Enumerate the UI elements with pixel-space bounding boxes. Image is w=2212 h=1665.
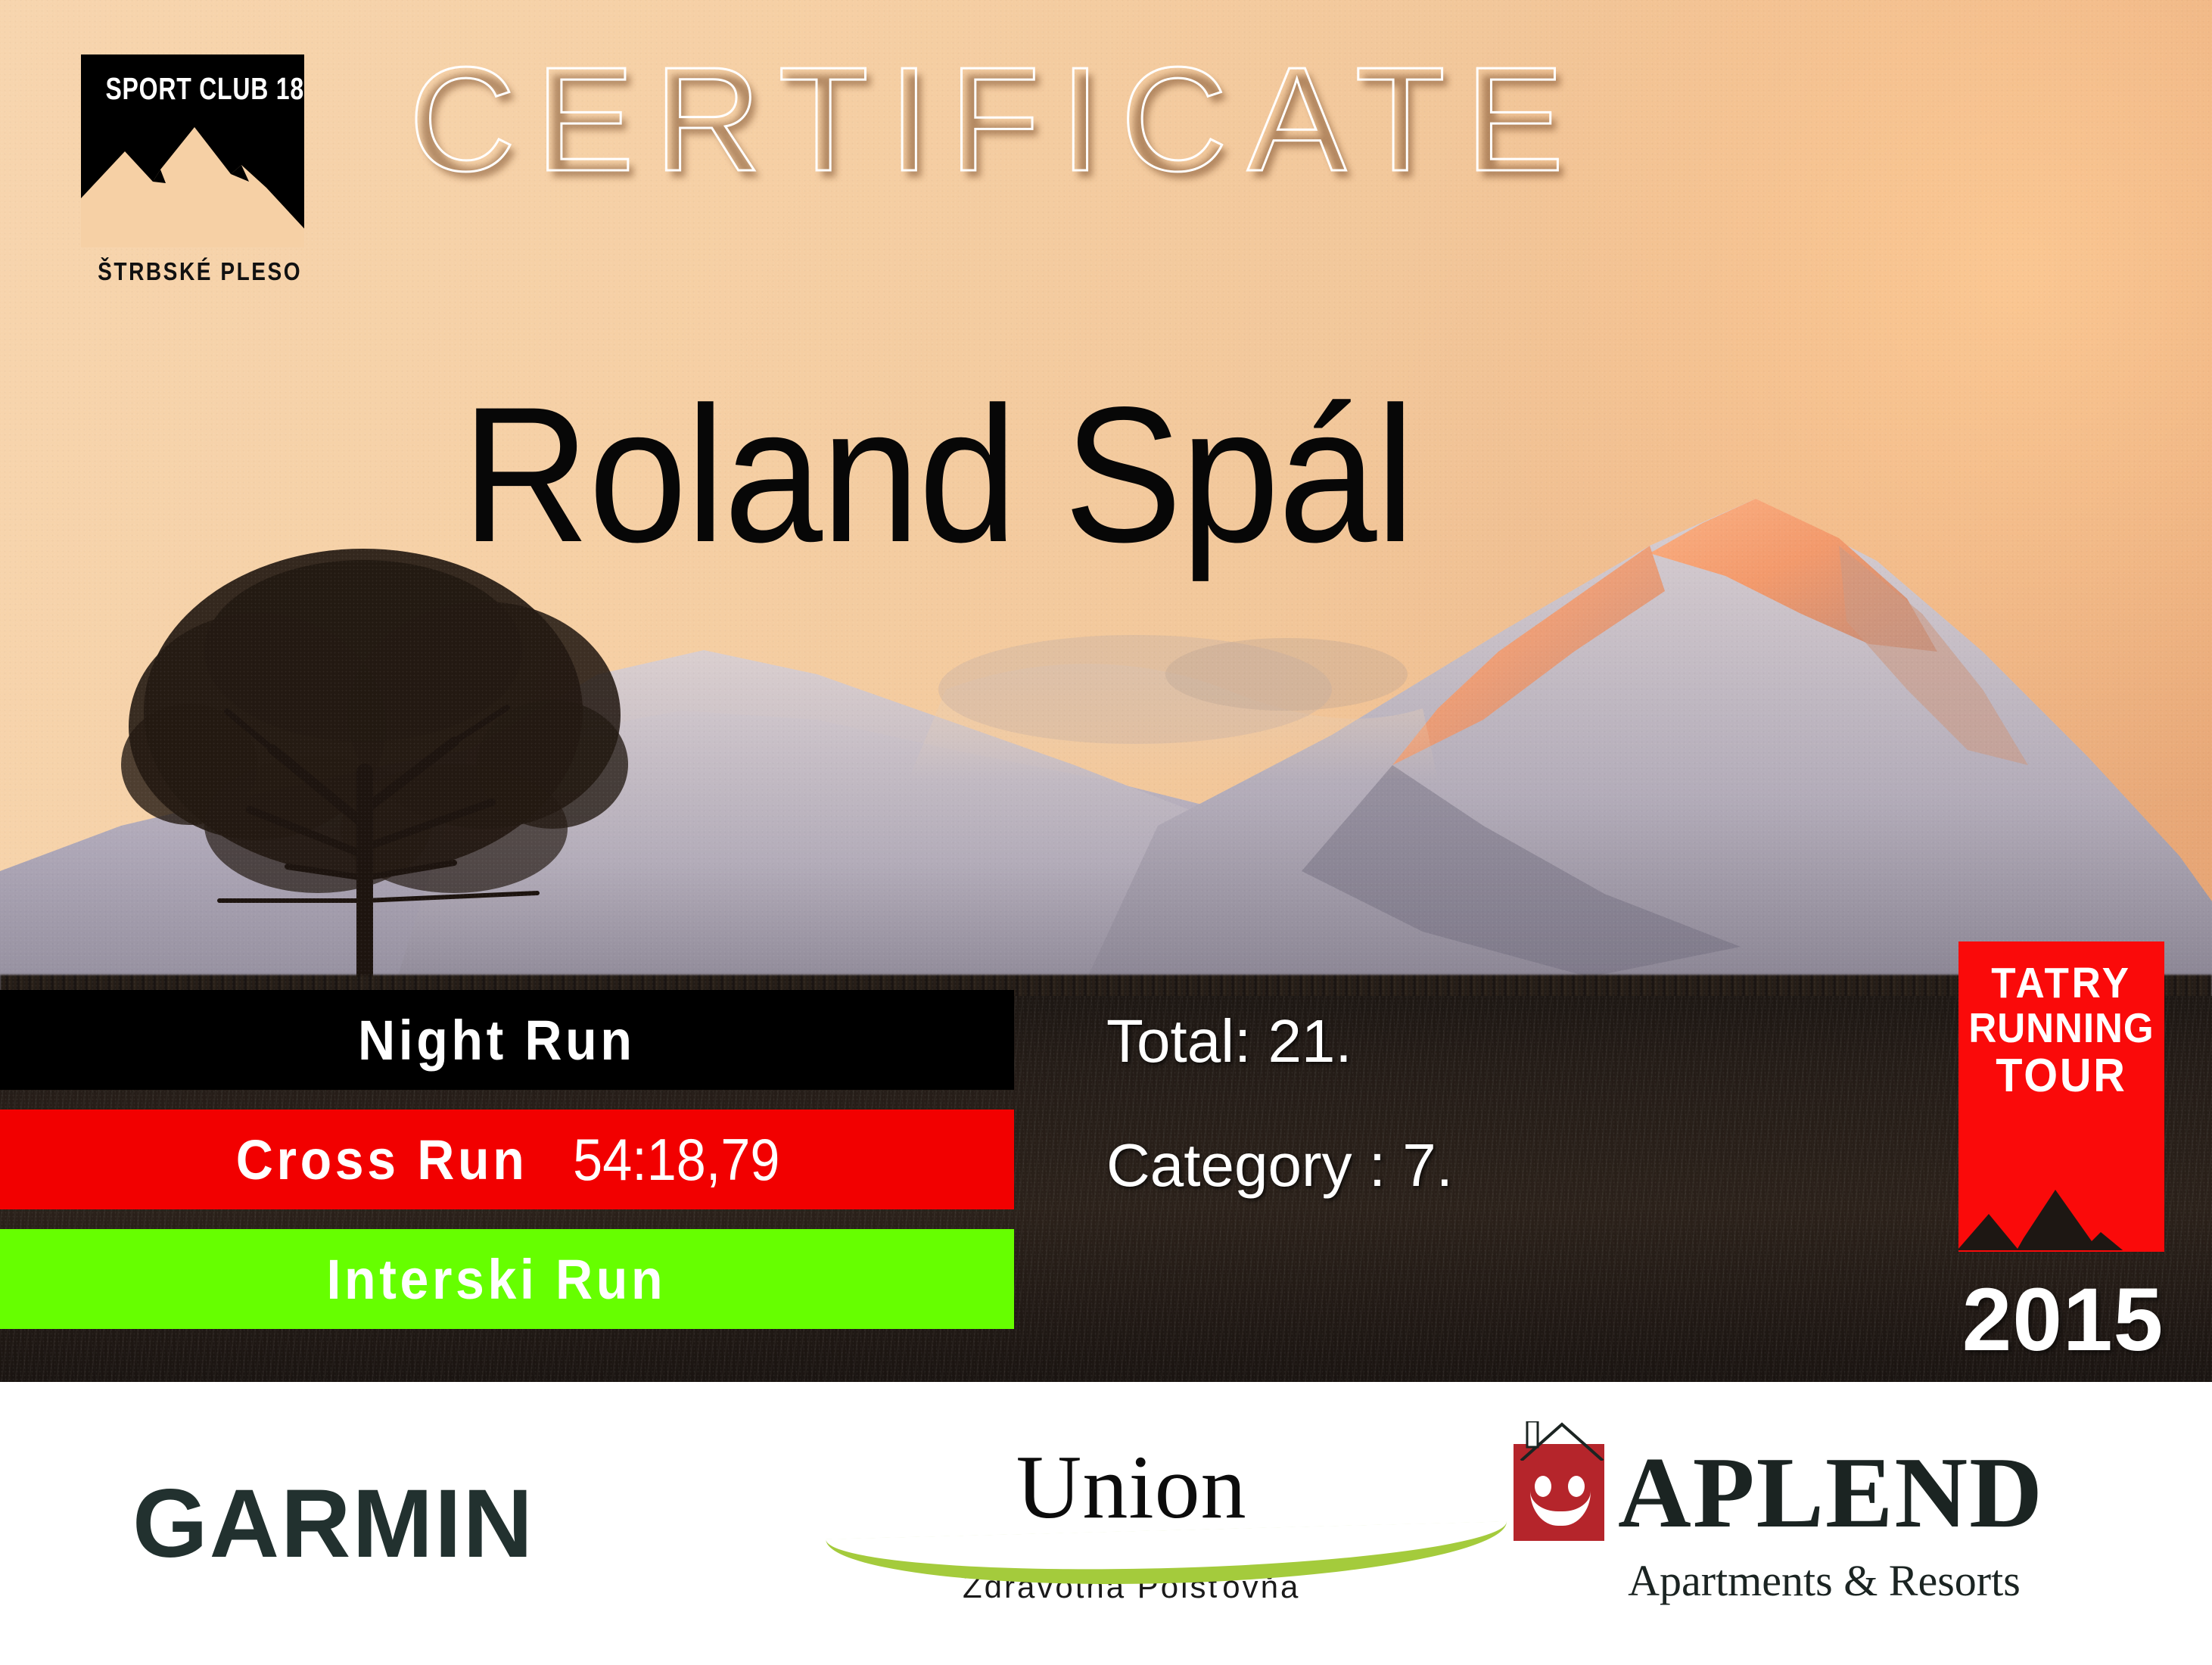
aplend-smile [1530,1491,1591,1526]
garmin-wordmark: GARMIN [132,1468,534,1579]
sport-club-logo: SPORT CLUB 1896 ŠTRBSKÉ PLESO [81,54,304,295]
result-bar-label: Night Run [358,1008,636,1072]
background-photo: SPORT CLUB 1896 ŠTRBSKÉ PLESO CERTIFICAT… [0,0,2212,1382]
sponsor-garmin: GARMIN [132,1382,534,1665]
category-placement: Category : 7. [1106,1131,1453,1200]
placement-summary: Total: 21. Category : 7. [1106,1007,1453,1200]
tree-silhouette [98,522,628,991]
badge-year: 2015 [1949,1268,2176,1371]
sponsor-union: Union Zdravotná Poisťovňa [963,1382,1300,1665]
aplend-house-smiley-icon [1514,1444,1604,1541]
page-title: CERTIFICATE [409,45,1584,194]
aplend-tagline: Apartments & Resorts [1604,1555,2044,1606]
vertical-banner: Night Run Sky&Clouds Run Interski Run TA… [1917,0,2212,984]
result-bar-value: 54:18,79 [573,1125,779,1194]
sport-club-mountain-icon [81,54,304,247]
union-swoosh-icon [826,1521,1508,1592]
badge-line-tour: TOUR [1966,1049,2158,1103]
sport-club-logo-box: SPORT CLUB 1896 [81,54,304,247]
certificate-page: SPORT CLUB 1896 ŠTRBSKÉ PLESO CERTIFICAT… [0,0,2212,1665]
results-bars: Night Run Cross Run 54:18,79 Interski Ru… [0,990,1014,1329]
result-bar-label: Cross Run [235,1128,527,1192]
result-bar-label: Interski Run [327,1247,667,1312]
sponsor-aplend: APLEND Apartments & Resorts [1514,1382,2044,1665]
sport-club-logo-location: ŠTRBSKÉ PLESO [98,257,288,286]
badge-bottom-notch [1958,1250,2164,1252]
aplend-wordmark: APLEND [1618,1442,2044,1543]
badge-line-running: RUNNING [1966,1004,2158,1052]
sponsor-footer: GARMIN Union Zdravotná Poisťovňa [0,1382,2212,1665]
result-bar-cross-run: Cross Run 54:18,79 [0,1109,1014,1209]
total-placement: Total: 21. [1106,1007,1453,1076]
result-bar-interski-run: Interski Run [0,1229,1014,1329]
badge-line-tatry: TATRY [1966,958,2158,1008]
tatry-running-tour-badge: TATRY RUNNING TOUR [1958,941,2164,1252]
union-wordmark: Union [1016,1442,1247,1533]
aplend-roof-icon [1518,1421,1606,1461]
athlete-name: Roland Spál [462,378,1414,571]
result-bar-night-run: Night Run [0,990,1014,1090]
badge-mountain-icon [1958,1135,2164,1252]
